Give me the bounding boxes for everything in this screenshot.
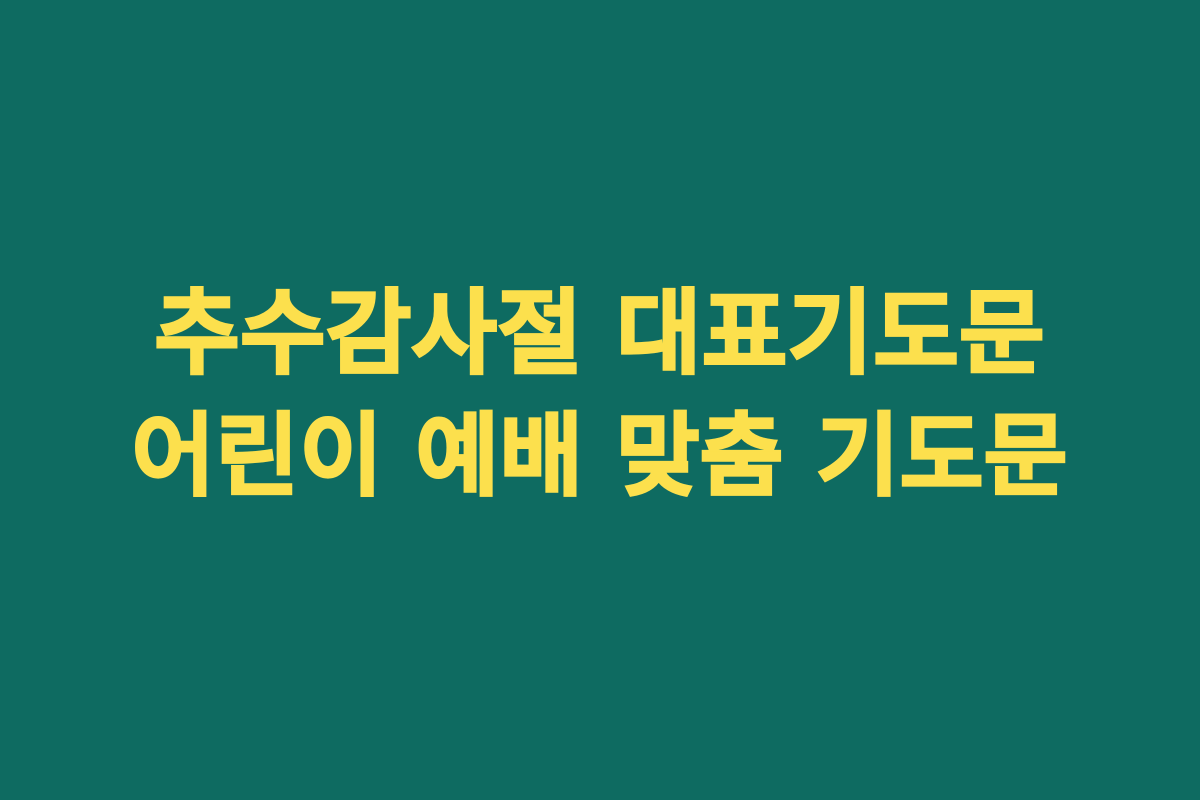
- headline-block: 추수감사절 대표기도문 어린이 예배 맞춤 기도문: [0, 271, 1200, 519]
- headline-line-1: 추수감사절 대표기도문: [0, 271, 1200, 396]
- headline-line-2: 어린이 예배 맞춤 기도문: [0, 396, 1200, 518]
- thumbnail-canvas: 추수감사절 대표기도문 어린이 예배 맞춤 기도문: [0, 0, 1200, 800]
